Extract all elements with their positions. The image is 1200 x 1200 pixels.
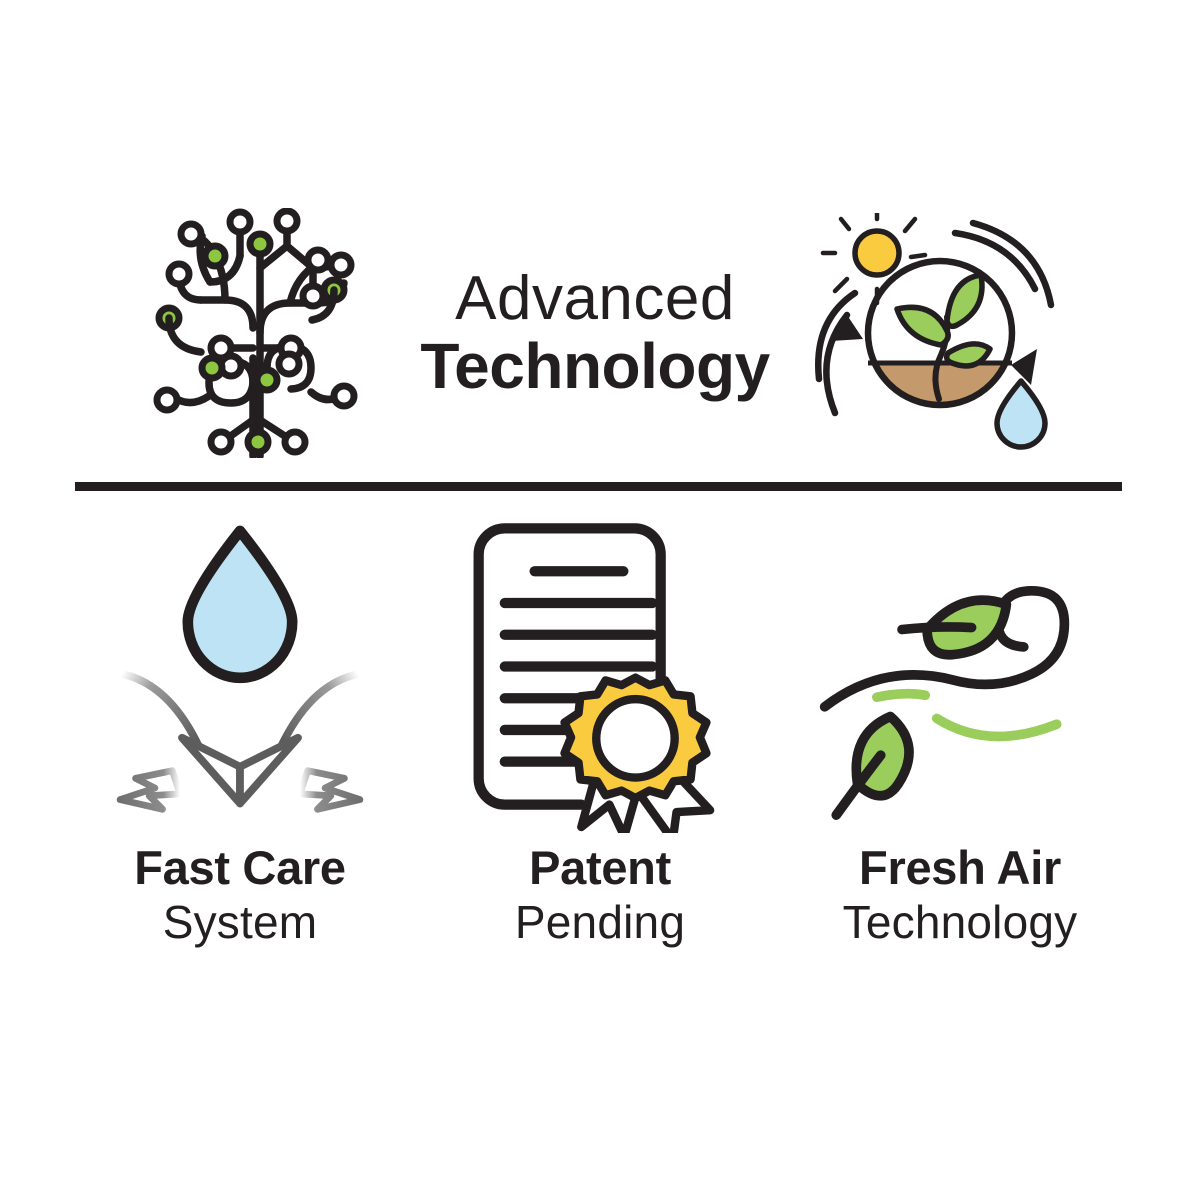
wind-leaves-icon [815,505,1105,840]
headline-line-technology: Technology [415,334,775,398]
feature-row: Fast Care System [0,505,1200,995]
top-banner: Advanced Technology [0,195,1200,470]
feature-card-fast-care: Fast Care System [60,505,420,945]
headline: Advanced Technology [415,268,775,398]
feature-title: Fast Care [134,844,346,891]
water-drop-absorb-icon [95,505,385,840]
feature-label-fast-care: Fast Care System [134,844,346,945]
feature-subtitle: Pending [515,899,685,945]
headline-line-advanced: Advanced [415,268,775,330]
feature-title: Fresh Air [843,844,1078,891]
right-flow-arrow [300,770,360,809]
patent-certificate-icon [460,505,740,840]
water-drop-icon [997,381,1045,447]
infographic-canvas: Advanced Technology [0,0,1200,1200]
feature-card-patent: Patent Pending [420,505,780,945]
cycle-arrowhead-down [1011,349,1037,385]
feature-card-fresh-air: Fresh Air Technology [780,505,1140,945]
feature-label-patent: Patent Pending [515,844,685,945]
sun-icon [855,231,899,275]
circuit-tree-icon [145,208,375,458]
left-flow-arrow [120,770,180,809]
section-divider [75,482,1122,491]
leaf-upper-stem [902,626,972,629]
feature-title: Patent [515,844,685,891]
water-drop-shape [188,530,292,677]
feature-label-fresh-air: Fresh Air Technology [843,844,1078,945]
eco-cycle-icon [805,213,1055,453]
feature-subtitle: Technology [843,899,1078,945]
feature-subtitle: System [134,899,346,945]
